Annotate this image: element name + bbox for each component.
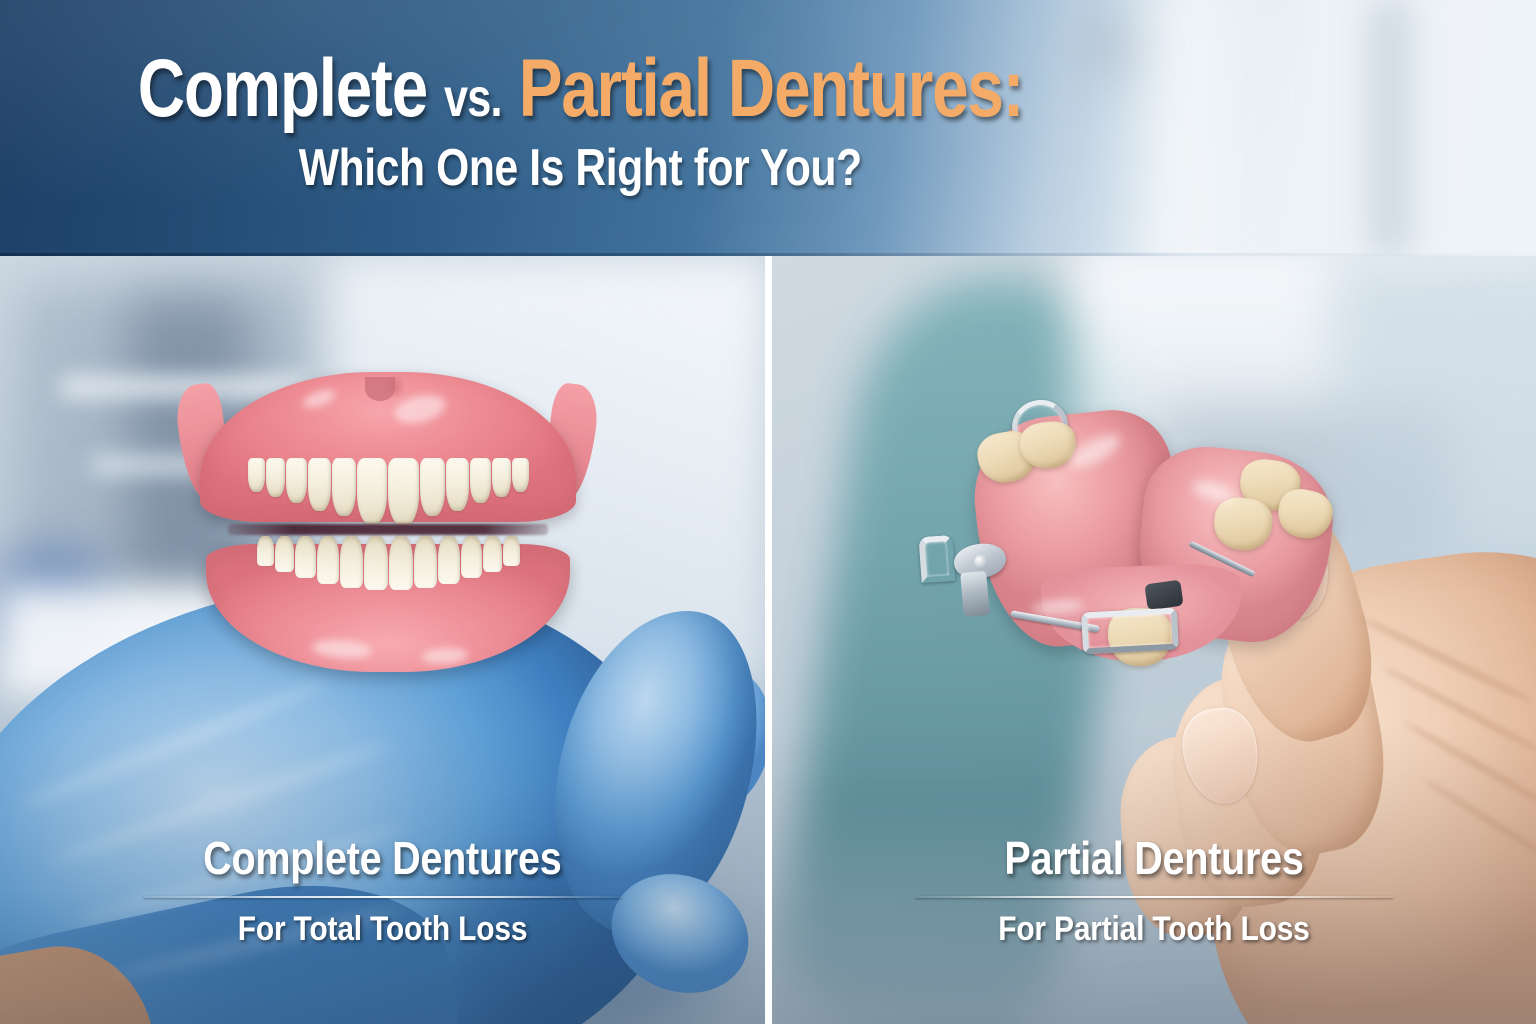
complete-denture-set: [172, 372, 602, 672]
title-segment-vs: vs.: [444, 68, 502, 128]
upper-gum-notch: [365, 377, 395, 401]
header-banner: Complete vs. Partial Dentures: Which One…: [0, 0, 1536, 256]
title-block: Complete vs. Partial Dentures: Which One…: [0, 0, 1160, 256]
upper-teeth-row: [218, 458, 558, 525]
tooth-upper: [286, 458, 307, 503]
infographic-root: Complete vs. Partial Dentures: Which One…: [0, 0, 1536, 1024]
tooth-upper: [470, 458, 491, 503]
tooth-lower: [461, 536, 482, 578]
caption-divider-left: [144, 896, 622, 898]
tooth-lower: [257, 536, 274, 566]
caption-complete: Complete Dentures For Total Tooth Loss: [0, 835, 765, 946]
panel-partial-dentures[interactable]: Partial Dentures For Partial Tooth Loss: [772, 256, 1536, 1024]
tooth-lower: [414, 536, 437, 588]
title-segment-complete: Complete: [137, 43, 426, 134]
metal-clasp-bar: [1081, 608, 1179, 655]
metal-clasp-hook-icon: [918, 535, 955, 583]
tooth-upper: [388, 458, 419, 525]
tooth-lower: [340, 536, 363, 588]
panel-divider: [765, 256, 772, 1024]
page-subtitle: Which One Is Right for You?: [299, 142, 862, 194]
lower-teeth-row: [224, 536, 552, 590]
tooth-upper: [357, 458, 387, 524]
caption-divider-right: [915, 896, 1393, 898]
comparison-panels: Complete Dentures For Total Tooth Loss: [0, 256, 1536, 1024]
caption-title-partial: Partial Dentures: [1004, 835, 1303, 881]
caption-title-complete: Complete Dentures: [203, 835, 561, 881]
partial-denture-appliance: [892, 386, 1362, 726]
tooth-upper: [266, 458, 285, 497]
tooth-upper: [492, 458, 511, 497]
metal-rest-dark: [1144, 580, 1183, 611]
tooth-upper: [420, 458, 445, 516]
tooth-lower: [364, 536, 388, 590]
tooth-upper: [332, 458, 356, 516]
caption-partial: Partial Dentures For Partial Tooth Loss: [772, 835, 1536, 946]
tooth-lower: [483, 536, 502, 572]
tooth-lower: [438, 536, 460, 584]
tooth-lower: [317, 536, 339, 584]
metal-attachment-block: [960, 571, 990, 617]
title-segment-partial-dentures: Partial Dentures:: [518, 43, 1023, 134]
page-title: Complete vs. Partial Dentures:: [137, 50, 1023, 129]
tooth-lower: [275, 536, 294, 572]
tooth-upper: [512, 458, 529, 492]
panel-complete-dentures[interactable]: Complete Dentures For Total Tooth Loss: [0, 256, 765, 1024]
bite-line: [228, 524, 548, 535]
tooth-upper: [446, 458, 469, 511]
tooth-lower: [295, 536, 316, 578]
tooth-lower: [503, 536, 520, 566]
tooth-lower: [389, 536, 413, 590]
caption-subtitle-partial: For Partial Tooth Loss: [998, 912, 1309, 946]
tooth-upper: [248, 458, 265, 492]
tooth-upper: [308, 458, 331, 511]
caption-subtitle-complete: For Total Tooth Loss: [238, 912, 528, 946]
